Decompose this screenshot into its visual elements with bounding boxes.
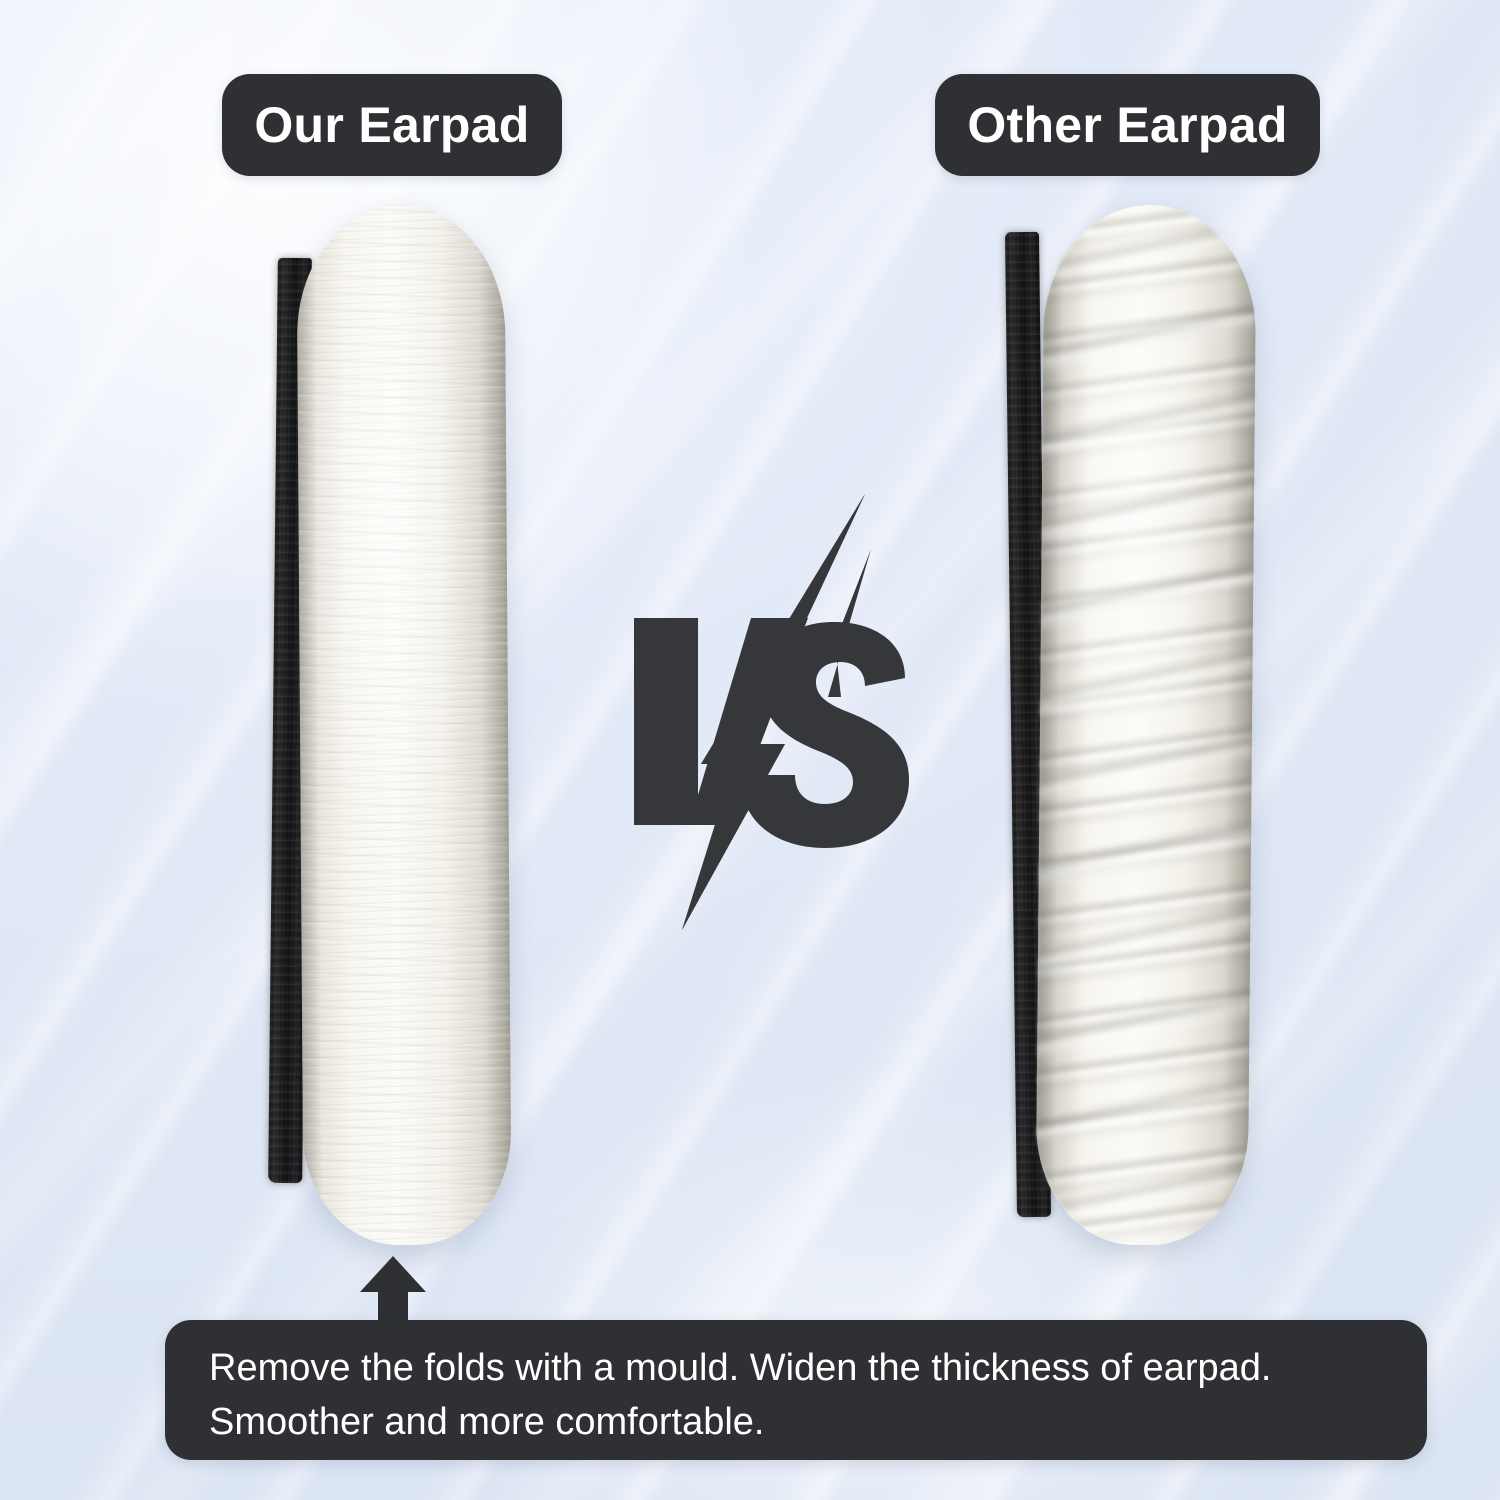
callout-caption-box: Remove the folds with a mould. Widen the… [165, 1320, 1427, 1460]
other-earpad-shade-left [1035, 204, 1256, 1246]
versus-lightning-icon [622, 492, 922, 932]
other-earpad-highlight [1035, 204, 1256, 1246]
callout-caption-text: Remove the folds with a mould. Widen the… [209, 1342, 1383, 1450]
other-earpad-cushion [1035, 204, 1256, 1246]
product-comparison-image: Our Earpad Other Earpad [0, 0, 1500, 1500]
other-earpad-shade-right [1035, 204, 1256, 1246]
